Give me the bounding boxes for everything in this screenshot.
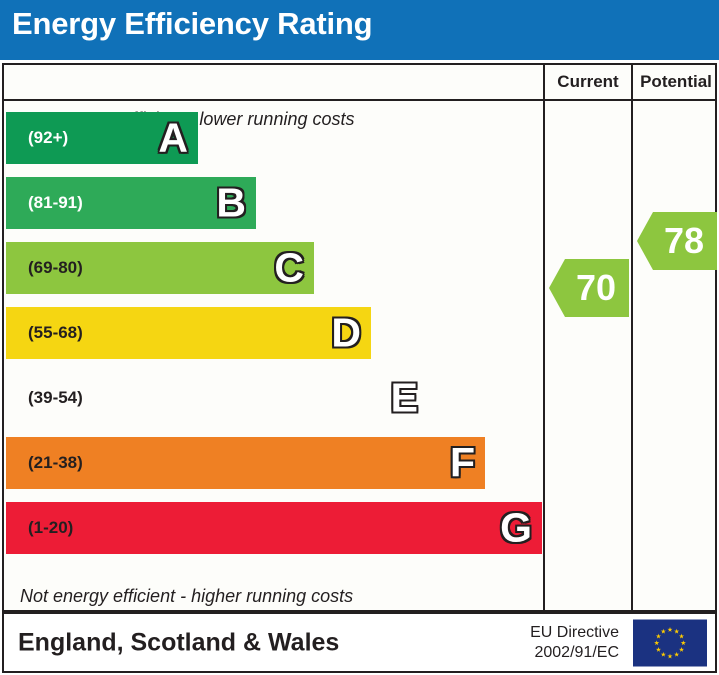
directive-line-2: 2002/91/EC: [530, 643, 619, 663]
band-e: (39-54)E: [6, 372, 428, 424]
band-letter-c: C: [274, 248, 304, 289]
band-range-e: (39-54): [28, 388, 83, 408]
page-title: Energy Efficiency Rating: [12, 6, 372, 42]
epc-certificate: Energy Efficiency Rating Current Potenti…: [0, 0, 719, 675]
band-letter-a: A: [158, 118, 188, 159]
footer-region-label: England, Scotland & Wales: [18, 628, 339, 657]
band-letter-g: G: [500, 508, 532, 549]
potential-rating-arrow: 78: [637, 212, 717, 270]
current-rating-arrow: 70: [549, 259, 629, 317]
band-letter-e: E: [391, 378, 418, 419]
band-range-c: (69-80): [28, 258, 83, 278]
eu-flag-icon: [633, 619, 707, 666]
column-header-potential: Potential: [633, 72, 719, 92]
rating-chart: Current Potential Very energy efficient …: [2, 63, 717, 612]
band-letter-b: B: [216, 183, 246, 224]
band-range-g: (1-20): [28, 518, 73, 538]
current-rating-value: 70: [576, 270, 616, 306]
band-d: (55-68)D: [6, 307, 371, 359]
band-range-d: (55-68): [28, 323, 83, 343]
band-g: (1-20)G: [6, 502, 542, 554]
title-bar: Energy Efficiency Rating: [0, 0, 719, 60]
band-c: (69-80)C: [6, 242, 314, 294]
directive-line-1: EU Directive: [530, 623, 619, 643]
potential-rating-value: 78: [664, 223, 704, 259]
column-header-current: Current: [545, 72, 631, 92]
column-divider-current: [543, 65, 545, 610]
footer-bar: England, Scotland & Wales EU Directive 2…: [2, 612, 717, 673]
band-range-f: (21-38): [28, 453, 83, 473]
band-list: (92+)A(81-91)B(69-80)C(55-68)D(39-54)E(2…: [4, 65, 541, 610]
band-range-a: (92+): [28, 128, 68, 148]
footer-directive: EU Directive 2002/91/EC: [530, 623, 619, 663]
band-letter-d: D: [331, 313, 361, 354]
band-b: (81-91)B: [6, 177, 256, 229]
column-divider-potential: [631, 65, 633, 610]
band-f: (21-38)F: [6, 437, 485, 489]
band-a: (92+)A: [6, 112, 198, 164]
band-letter-f: F: [450, 443, 475, 484]
band-range-b: (81-91): [28, 193, 83, 213]
